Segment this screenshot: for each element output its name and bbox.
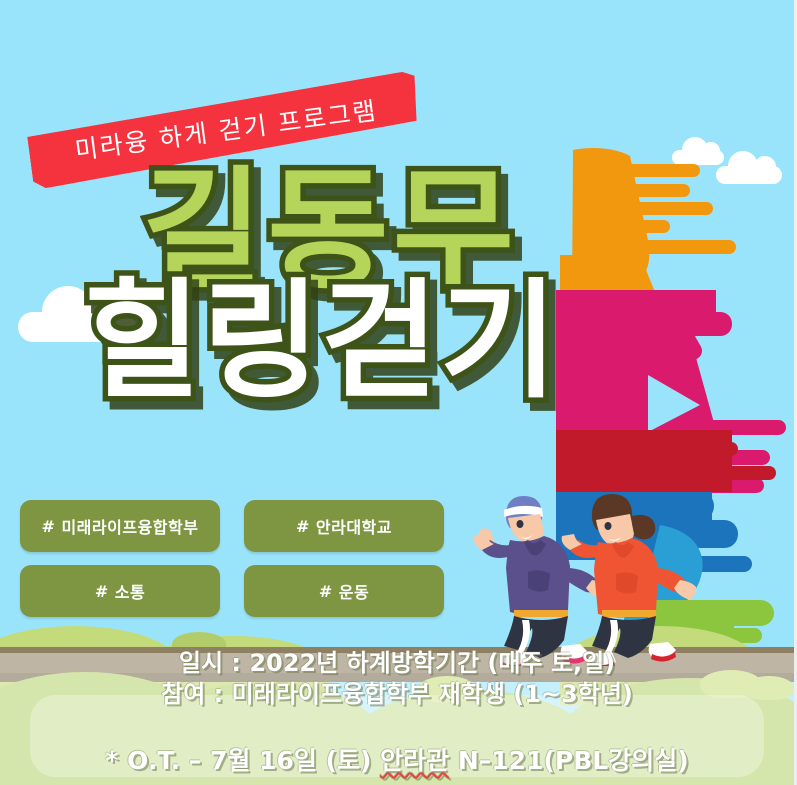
hashtag-tag-label: 운동 [339, 579, 369, 603]
orientation-line: * O.T. – 7월 16일 (토) 안라관 N–121(PBL강의실) [0, 741, 794, 777]
hashtag-tag-list: # 미래라이프융합학부 # 안라대학교 # 소통 # 운동 [20, 500, 444, 617]
male-runner-figure [474, 496, 612, 666]
title-line-2: 힐링걷기 [0, 281, 660, 404]
hashtag-tag-label: 소통 [115, 579, 145, 603]
hashtag-tag-label: 미래라이프융합학부 [61, 514, 198, 538]
hashtag-tag[interactable]: # 안라대학교 [244, 500, 444, 552]
orientation-prefix: * O.T. – 7월 16일 (토) [105, 746, 380, 775]
hashtag-tag-label: 안라대학교 [316, 514, 392, 538]
hash-icon: # [42, 517, 56, 536]
hashtag-tag[interactable]: # 소통 [20, 565, 220, 617]
hash-icon: # [319, 582, 333, 601]
event-date-line: 일시 : 2022년 하계방학기간 (매주 토,일) [0, 648, 794, 679]
poster-title: 길동무 힐링걷기 [0, 168, 660, 404]
event-participants-line: 참여 : 미래라이프융합학부 재학생 (1~3학년) [0, 679, 794, 710]
poster-canvas: 미라융 하게 걷기 프로그램 길동무 힐링걷기 # 미래라이프융합학부 # 안라… [0, 0, 797, 785]
orientation-suffix: N–121(PBL강의실) [449, 746, 688, 775]
runners-illustration [466, 476, 696, 666]
hashtag-tag[interactable]: # 운동 [244, 565, 444, 617]
event-info-block: 일시 : 2022년 하계방학기간 (매주 토,일) 참여 : 미래라이프융합학… [0, 648, 794, 709]
orientation-place: 안라관 [380, 746, 449, 775]
hash-icon: # [95, 582, 109, 601]
cloud-icon [716, 166, 782, 184]
hash-icon: # [296, 517, 310, 536]
hashtag-tag[interactable]: # 미래라이프융합학부 [20, 500, 220, 552]
cloud-icon [672, 150, 724, 165]
